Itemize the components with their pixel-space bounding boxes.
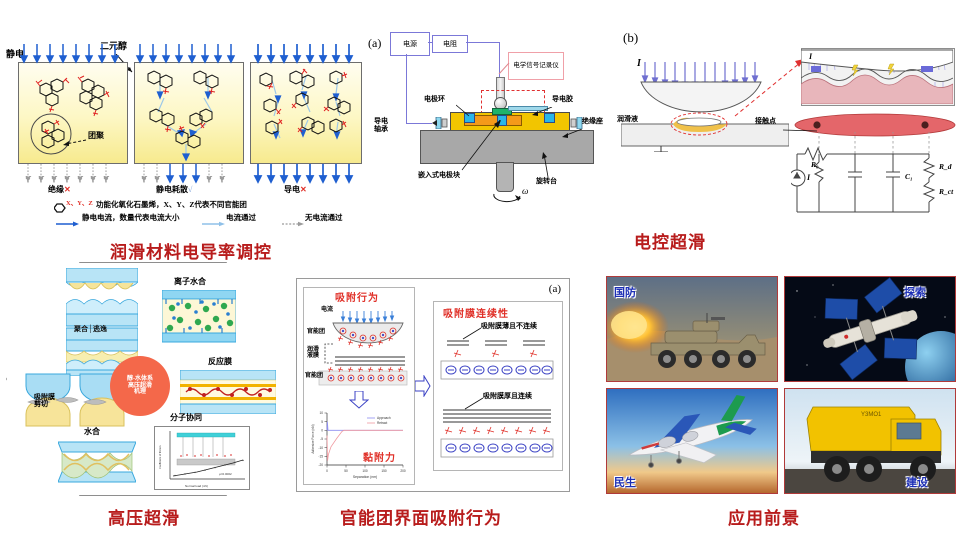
panel-applications: 国防 bbox=[606, 276, 956, 492]
insulating-seat-label: 绝缘座 bbox=[582, 118, 603, 125]
case-thick-label: 吸附膜厚且连续 bbox=[483, 393, 532, 400]
panel-a-beakers: 静电 二元醇 bbox=[4, 20, 370, 220]
xtick-150: 150 bbox=[381, 469, 387, 473]
center-line2: 高压超滑 bbox=[128, 383, 152, 389]
legend-static-current-icon bbox=[56, 215, 80, 233]
circuit-label-source: I bbox=[807, 173, 810, 182]
circuit-label-rct: R_ct bbox=[939, 187, 953, 196]
miniplot-annotation: μ=0.0002 bbox=[219, 472, 232, 476]
panel-tag-adsorption: (a) bbox=[549, 283, 561, 295]
legend-no-current-icon bbox=[282, 215, 306, 233]
legend-approach: Approach bbox=[377, 416, 391, 420]
photo-exploration-label: 探索 bbox=[904, 284, 926, 300]
node-adsorption-film-label: 吸附膜 剪切 bbox=[34, 394, 55, 409]
ytick-0: 0 bbox=[321, 429, 323, 433]
ytick-10: 10 bbox=[319, 411, 323, 415]
xtick-50: 50 bbox=[344, 469, 348, 473]
case-thin-label: 吸附膜薄且不连续 bbox=[481, 323, 537, 330]
node-molecular-synergy-plot: μ=0.0002 Normal load (nN) Coefficient of… bbox=[154, 426, 250, 490]
lubricant-bracket bbox=[321, 343, 335, 370]
node-ion-hydration-label: 离子水合 bbox=[174, 278, 206, 286]
section-title-adsorption: 官能团界面吸附行为 bbox=[340, 504, 502, 529]
state-label-insulating: 绝缘✕ bbox=[48, 186, 71, 194]
resistor-box: 电阻 bbox=[432, 35, 468, 53]
series-approach bbox=[327, 422, 403, 431]
label-functional-group-top: 官能团 bbox=[307, 329, 325, 335]
label-lubricant-layer: 润滑 液膜 bbox=[307, 347, 319, 359]
state-text-conductive: 导电 bbox=[284, 185, 300, 194]
node-reaction-film-label: 反应膜 bbox=[208, 358, 232, 366]
wire-supply-to-bearing bbox=[406, 123, 432, 124]
chart-xlabel: Separation (nm) bbox=[353, 475, 377, 479]
ytick-m5: -5 bbox=[320, 437, 323, 441]
bearing-left bbox=[432, 116, 450, 128]
insulating-seat-leader bbox=[560, 126, 584, 144]
no-current-arrows-beaker-1 bbox=[18, 164, 128, 191]
photo-livelihood-label: 民生 bbox=[614, 474, 636, 490]
adsorption-title-left: 吸附行为 bbox=[335, 289, 379, 304]
state-mark-dissipative: √ bbox=[188, 185, 192, 194]
embedded-electrode-leader bbox=[458, 120, 502, 179]
legend-retract: Retract bbox=[377, 421, 387, 425]
panel-adsorption: (a) 吸附行为 电流 bbox=[296, 278, 570, 492]
current-symbol-zoom: I bbox=[809, 52, 812, 61]
signal-recorder-box: 电学信号 记录仪 bbox=[508, 52, 564, 80]
miniplot-ylabel: Coefficient of friction bbox=[158, 445, 162, 469]
node-reaction-film-graphic bbox=[180, 370, 276, 419]
conductive-bearing-label: 导电 轴承 bbox=[374, 118, 388, 133]
poster-root: 静电 二元醇 bbox=[0, 0, 960, 540]
panel-a-apparatus: (a) 电源 电阻 电学信号 记录仪 bbox=[368, 20, 618, 220]
contact-zoom-drawing bbox=[801, 48, 953, 109]
embedded-electrode-label: 嵌入式电极块 bbox=[418, 172, 460, 179]
wire-supply-down bbox=[406, 54, 407, 124]
legend-current-pass-text: 电流通过 bbox=[226, 214, 256, 222]
xtick-100: 100 bbox=[362, 469, 368, 473]
node-aggregation-escape-graphic bbox=[66, 268, 138, 345]
miniplot-xlabel: Normal load (nN) bbox=[185, 484, 208, 488]
circuit-label-rd: R_d bbox=[939, 162, 952, 171]
rotation-arrow bbox=[492, 186, 526, 209]
panel-b: (b) bbox=[615, 20, 960, 225]
state-mark-conductive: ✕ bbox=[300, 185, 307, 194]
photo-construction-label: 建设 bbox=[906, 474, 928, 490]
panel-tag-b: (b) bbox=[623, 30, 638, 46]
node-ion-hydration-graphic bbox=[162, 290, 236, 349]
section-title-application: 应用前景 bbox=[728, 504, 800, 529]
legend-current-pass-icon bbox=[202, 215, 226, 233]
ytick-m10: -10 bbox=[318, 446, 323, 450]
circuit-label-r0: R₀ bbox=[811, 160, 819, 169]
node-aggregation-escape-label: 聚合│逃逸 bbox=[74, 326, 107, 333]
photo-construction: Y3MO1 bbox=[784, 388, 956, 494]
signal-recorder-line2: 记录仪 bbox=[539, 62, 559, 70]
circuit-label-c1: C₁ bbox=[905, 172, 913, 181]
case-thick-graphic bbox=[439, 407, 555, 468]
panel-tag-a-apparatus: (a) bbox=[368, 36, 381, 51]
conductive-glue-leader bbox=[532, 104, 554, 122]
lubricant-label: 润滑液 bbox=[617, 116, 638, 123]
xtick-200: 200 bbox=[400, 469, 406, 473]
legend-molecule-prefix: X、Y、Z bbox=[66, 201, 93, 208]
label-functional-group-bottom: 官能团 bbox=[305, 373, 323, 379]
state-mark-insulating: ✕ bbox=[64, 185, 71, 194]
legend-no-current-text: 无电流通过 bbox=[305, 214, 343, 222]
section-title-electro: 电控超滑 bbox=[634, 228, 706, 253]
conductive-bearing-line2: 轴承 bbox=[374, 125, 388, 133]
adsorption-title-right: 吸附膜连续性 bbox=[443, 305, 509, 320]
power-supply-box: 电源 bbox=[390, 32, 430, 56]
transition-arrow bbox=[415, 375, 431, 402]
xtick-0: 0 bbox=[326, 469, 328, 473]
state-label-conductive: 导电✕ bbox=[284, 186, 307, 194]
signal-recorder-line1: 电学信号 bbox=[513, 62, 539, 70]
center-line3: 机理 bbox=[134, 389, 146, 395]
section-title-conductivity: 润滑材料电导率调控 bbox=[110, 238, 272, 263]
wire-resistor-right bbox=[466, 42, 500, 43]
panel-hexagon: 聚合│逃逸 bbox=[6, 262, 298, 494]
section-title-highpressure: 高压超滑 bbox=[108, 504, 180, 529]
state-text-dissipative: 静电耗散 bbox=[156, 185, 188, 194]
truck-branding: Y3MO1 bbox=[861, 412, 882, 418]
ytick-m15: -15 bbox=[318, 455, 323, 459]
ytick-5: 5 bbox=[321, 420, 323, 424]
node-hydration-label: 水合 bbox=[84, 428, 100, 436]
chart-ylabel: Adhesive Force (nN) bbox=[311, 424, 315, 453]
chart-annotation-adhesion: 黏附力 bbox=[363, 449, 396, 464]
wire-supply-to-resistor bbox=[428, 42, 432, 43]
state-label-dissipative: 静电耗散√ bbox=[156, 186, 192, 194]
contact-point-label: 接触点 bbox=[755, 118, 776, 125]
equivalent-circuit bbox=[791, 132, 957, 225]
state-text-insulating: 绝缘 bbox=[48, 185, 64, 194]
conductive-glue-label: 导电胶 bbox=[552, 96, 573, 103]
photo-exploration bbox=[784, 276, 956, 382]
node-molecular-synergy-label: 分子协同 bbox=[170, 414, 202, 422]
case-thin-graphic bbox=[439, 337, 555, 390]
rotary-table-leader bbox=[542, 152, 556, 183]
molecules-beaker-3 bbox=[250, 62, 360, 167]
ytick-m20: -20 bbox=[318, 463, 323, 467]
legend-static-current-text: 静电电流，数量代表电流大小 bbox=[82, 214, 180, 222]
node-hydration-graphic bbox=[58, 440, 136, 489]
hexagon-center-circle: 醇-水体系 高压超滑 机理 bbox=[110, 356, 170, 416]
electrode-ring-label: 电极环 bbox=[424, 96, 445, 103]
center-line1: 醇-水体系 bbox=[127, 376, 153, 382]
photo-defense-label: 国防 bbox=[614, 284, 636, 300]
cluster-pointer bbox=[60, 134, 88, 152]
current-symbol-b: I bbox=[637, 58, 641, 69]
cluster-label: 团聚 bbox=[88, 132, 104, 140]
molecules-beaker-2 bbox=[134, 62, 242, 167]
omega-label: ω bbox=[522, 186, 528, 196]
label-lubricant-line2: 液膜 bbox=[307, 353, 319, 359]
adhesion-force-chart: 10 5 0 -5 -10 -15 -20 0 50 100 150 200 S… bbox=[309, 409, 409, 479]
node-adsorption-film-line2: 剪切 bbox=[34, 400, 48, 408]
legend-molecule-text: 功能化氧化石墨烯，X、Y、Z代表不同官能团 bbox=[96, 201, 247, 209]
